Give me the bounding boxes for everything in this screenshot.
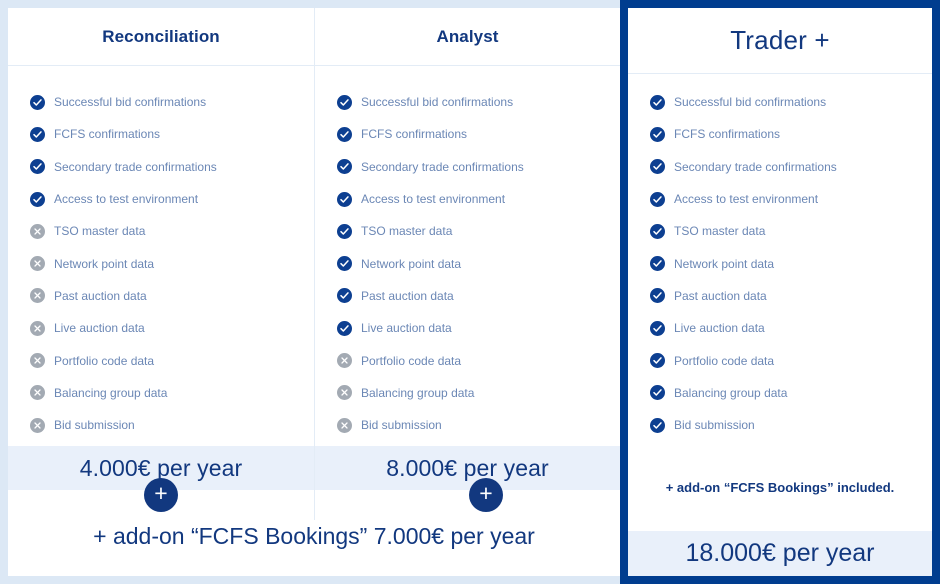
feature-row: Bid submission xyxy=(337,409,620,441)
feature-label: Access to test environment xyxy=(674,192,818,206)
plan-header-reconciliation: Reconciliation xyxy=(8,8,314,66)
feature-label: Secondary trade confirmations xyxy=(674,160,837,174)
feature-row: Portfolio code data xyxy=(650,344,932,376)
feature-row: Past auction data xyxy=(650,280,932,312)
check-icon xyxy=(337,321,352,336)
pricing-comparison-table: Reconciliation Successful bid confirmati… xyxy=(0,0,940,584)
feature-row: Portfolio code data xyxy=(30,344,314,376)
feature-row: Bid submission xyxy=(30,409,314,441)
price-band-trader-plus: 18.000€ per year xyxy=(628,531,932,576)
plan-title: Reconciliation xyxy=(102,27,220,47)
plus-icon: + xyxy=(479,482,492,505)
check-icon xyxy=(337,288,352,303)
feature-label: Access to test environment xyxy=(54,192,198,206)
check-icon xyxy=(30,159,45,174)
plan-title: Trader + xyxy=(730,25,830,56)
feature-label: FCFS confirmations xyxy=(361,127,467,141)
cross-icon xyxy=(30,321,45,336)
feature-row: Balancing group data xyxy=(650,377,932,409)
feature-label: Past auction data xyxy=(54,289,147,303)
plan-column-reconciliation[interactable]: Reconciliation Successful bid confirmati… xyxy=(8,8,314,520)
check-icon xyxy=(650,418,665,433)
feature-row: Successful bid confirmations xyxy=(30,86,314,118)
feature-label: Secondary trade confirmations xyxy=(54,160,217,174)
feature-row: Portfolio code data xyxy=(337,344,620,376)
standard-plans-area: Reconciliation Successful bid confirmati… xyxy=(8,8,620,576)
feature-label: Balancing group data xyxy=(674,386,787,400)
feature-label: Portfolio code data xyxy=(361,354,461,368)
check-icon xyxy=(337,95,352,110)
feature-row: FCFS confirmations xyxy=(337,118,620,150)
feature-row: Network point data xyxy=(30,247,314,279)
feature-row: Past auction data xyxy=(30,280,314,312)
feature-row: Balancing group data xyxy=(337,377,620,409)
cross-icon xyxy=(30,353,45,368)
feature-row: Network point data xyxy=(337,247,620,279)
feature-row: TSO master data xyxy=(337,215,620,247)
feature-label: Bid submission xyxy=(54,418,135,432)
check-icon xyxy=(30,95,45,110)
feature-row: Live auction data xyxy=(650,312,932,344)
check-icon xyxy=(337,224,352,239)
check-icon xyxy=(30,192,45,207)
feature-label: Balancing group data xyxy=(54,386,167,400)
check-icon xyxy=(337,192,352,207)
plus-badge-analyst[interactable]: + xyxy=(469,478,503,512)
check-icon xyxy=(650,95,665,110)
plan-column-analyst[interactable]: Analyst Successful bid confirmationsFCFS… xyxy=(314,8,620,520)
feature-row: Secondary trade confirmations xyxy=(337,151,620,183)
cross-icon xyxy=(30,418,45,433)
cross-icon xyxy=(337,385,352,400)
feature-row: FCFS confirmations xyxy=(650,118,932,150)
feature-row: Live auction data xyxy=(337,312,620,344)
plus-icon: + xyxy=(154,482,167,505)
price-band-analyst: 8.000€ per year xyxy=(314,446,620,490)
feature-label: Past auction data xyxy=(361,289,454,303)
feature-label: Network point data xyxy=(54,257,154,271)
feature-label: Network point data xyxy=(361,257,461,271)
feature-label: Access to test environment xyxy=(361,192,505,206)
standard-plan-columns: Reconciliation Successful bid confirmati… xyxy=(8,8,620,520)
plan-price: 18.000€ per year xyxy=(685,539,874,568)
feature-label: Bid submission xyxy=(361,418,442,432)
feature-label: Successful bid confirmations xyxy=(361,95,513,109)
feature-row: Live auction data xyxy=(30,312,314,344)
plan-header-trader-plus: Trader + xyxy=(628,8,932,74)
check-icon xyxy=(650,192,665,207)
feature-row: Successful bid confirmations xyxy=(650,86,932,118)
addon-included-note: + add-on “FCFS Bookings” included. xyxy=(628,480,932,495)
feature-row: Access to test environment xyxy=(337,183,620,215)
feature-row: Access to test environment xyxy=(30,183,314,215)
cross-icon xyxy=(337,353,352,368)
feature-row: Network point data xyxy=(650,247,932,279)
feature-row: TSO master data xyxy=(30,215,314,247)
feature-label: Portfolio code data xyxy=(674,354,774,368)
check-icon xyxy=(650,224,665,239)
cross-icon xyxy=(30,256,45,271)
feature-label: Successful bid confirmations xyxy=(674,95,826,109)
feature-row: Balancing group data xyxy=(30,377,314,409)
feature-label: Live auction data xyxy=(54,321,145,335)
cross-icon xyxy=(30,224,45,239)
feature-row: FCFS confirmations xyxy=(30,118,314,150)
plan-title: Analyst xyxy=(436,27,498,47)
feature-label: TSO master data xyxy=(361,224,452,238)
feature-row: Bid submission xyxy=(650,409,932,441)
cross-icon xyxy=(30,385,45,400)
feature-label: Bid submission xyxy=(674,418,755,432)
feature-row: Secondary trade confirmations xyxy=(650,151,932,183)
feature-label: Live auction data xyxy=(361,321,452,335)
cross-icon xyxy=(337,418,352,433)
feature-list-trader-plus: Successful bid confirmationsFCFS confirm… xyxy=(628,74,932,441)
trader-plus-inner: Trader + Successful bid confirmationsFCF… xyxy=(628,8,932,576)
feature-label: Successful bid confirmations xyxy=(54,95,206,109)
feature-row: Past auction data xyxy=(337,280,620,312)
feature-label: TSO master data xyxy=(54,224,145,238)
plan-column-trader-plus[interactable]: Trader + Successful bid confirmationsFCF… xyxy=(620,0,940,584)
check-icon xyxy=(337,256,352,271)
addon-price-line: + add-on “FCFS Bookings” 7.000€ per year xyxy=(8,523,620,550)
check-icon xyxy=(337,127,352,142)
feature-row: Successful bid confirmations xyxy=(337,86,620,118)
check-icon xyxy=(650,159,665,174)
feature-label: Secondary trade confirmations xyxy=(361,160,524,174)
plan-price: 8.000€ per year xyxy=(386,455,549,482)
check-icon xyxy=(650,127,665,142)
cross-icon xyxy=(30,288,45,303)
feature-label: Live auction data xyxy=(674,321,765,335)
feature-label: Past auction data xyxy=(674,289,767,303)
plus-badge-reconciliation[interactable]: + xyxy=(144,478,178,512)
check-icon xyxy=(650,288,665,303)
check-icon xyxy=(30,127,45,142)
check-icon xyxy=(337,159,352,174)
check-icon xyxy=(650,385,665,400)
feature-label: FCFS confirmations xyxy=(54,127,160,141)
feature-label: Balancing group data xyxy=(361,386,474,400)
feature-list-reconciliation: Successful bid confirmationsFCFS confirm… xyxy=(8,66,314,441)
feature-label: Network point data xyxy=(674,257,774,271)
feature-row: TSO master data xyxy=(650,215,932,247)
feature-label: Portfolio code data xyxy=(54,354,154,368)
plan-header-analyst: Analyst xyxy=(315,8,620,66)
feature-row: Access to test environment xyxy=(650,183,932,215)
feature-label: FCFS confirmations xyxy=(674,127,780,141)
feature-list-analyst: Successful bid confirmationsFCFS confirm… xyxy=(315,66,620,441)
check-icon xyxy=(650,256,665,271)
check-icon xyxy=(650,321,665,336)
feature-row: Secondary trade confirmations xyxy=(30,151,314,183)
feature-label: TSO master data xyxy=(674,224,765,238)
check-icon xyxy=(650,353,665,368)
